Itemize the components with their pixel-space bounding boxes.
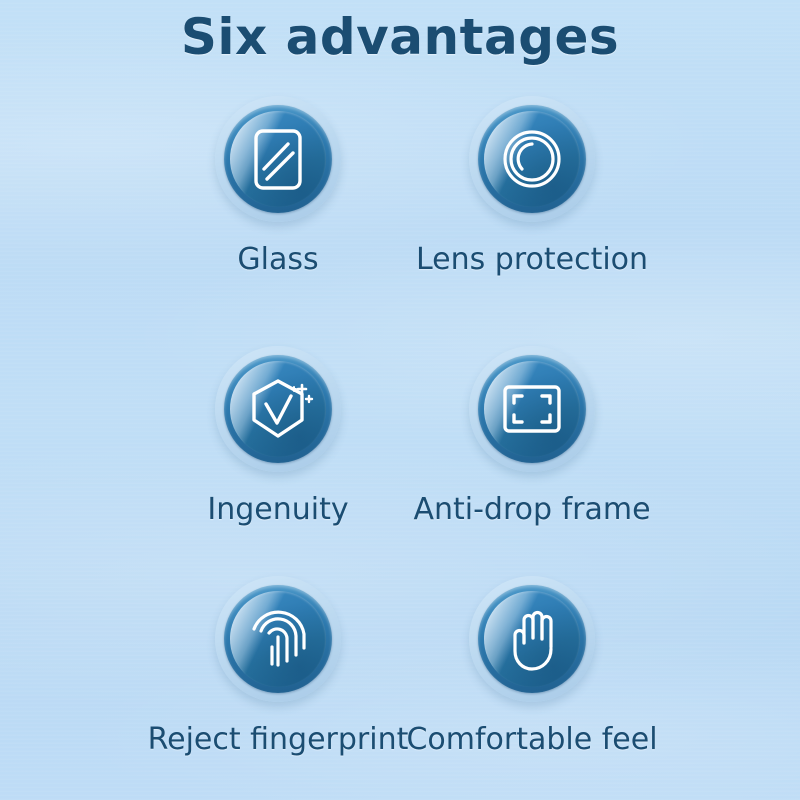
- corner-frame-icon: [484, 361, 580, 457]
- feature-label: Lens protection: [372, 242, 692, 277]
- badge-outer-ring: [215, 96, 341, 222]
- diamond-check-icon: [230, 361, 326, 457]
- camera-lens-icon: [484, 111, 580, 207]
- badge-mid-ring: [224, 105, 332, 213]
- feature-item-anti-drop-frame[interactable]: Anti-drop frame: [372, 346, 692, 527]
- feature-item-lens-protection[interactable]: Lens protection: [372, 96, 692, 277]
- badge-outer-ring: [469, 346, 595, 472]
- features-grid: Glass: [0, 96, 800, 796]
- badge-outer-ring: [215, 346, 341, 472]
- glass-screen-protector-icon: [230, 111, 326, 207]
- fingerprint-icon: [230, 591, 326, 687]
- badge-mid-ring: [478, 105, 586, 213]
- page-title: Six advantages: [0, 8, 800, 66]
- badge-mid-ring: [224, 355, 332, 463]
- badge-mid-ring: [478, 585, 586, 693]
- feature-label: Anti-drop frame: [372, 492, 692, 527]
- badge-reject-fingerprint: [215, 576, 341, 702]
- badge-lens-protection: [469, 96, 595, 222]
- badge-outer-ring: [469, 96, 595, 222]
- badge-mid-ring: [224, 585, 332, 693]
- badge-outer-ring: [215, 576, 341, 702]
- advantages-poster: Six advantages: [0, 0, 800, 800]
- badge-outer-ring: [469, 576, 595, 702]
- feature-label: Comfortable feel: [372, 722, 692, 757]
- badge-mid-ring: [478, 355, 586, 463]
- hand-palm-icon: [484, 591, 580, 687]
- badge-glass: [215, 96, 341, 222]
- badge-anti-drop-frame: [469, 346, 595, 472]
- badge-ingenuity: [215, 346, 341, 472]
- badge-comfortable-feel: [469, 576, 595, 702]
- feature-item-comfortable-feel[interactable]: Comfortable feel: [372, 576, 692, 757]
